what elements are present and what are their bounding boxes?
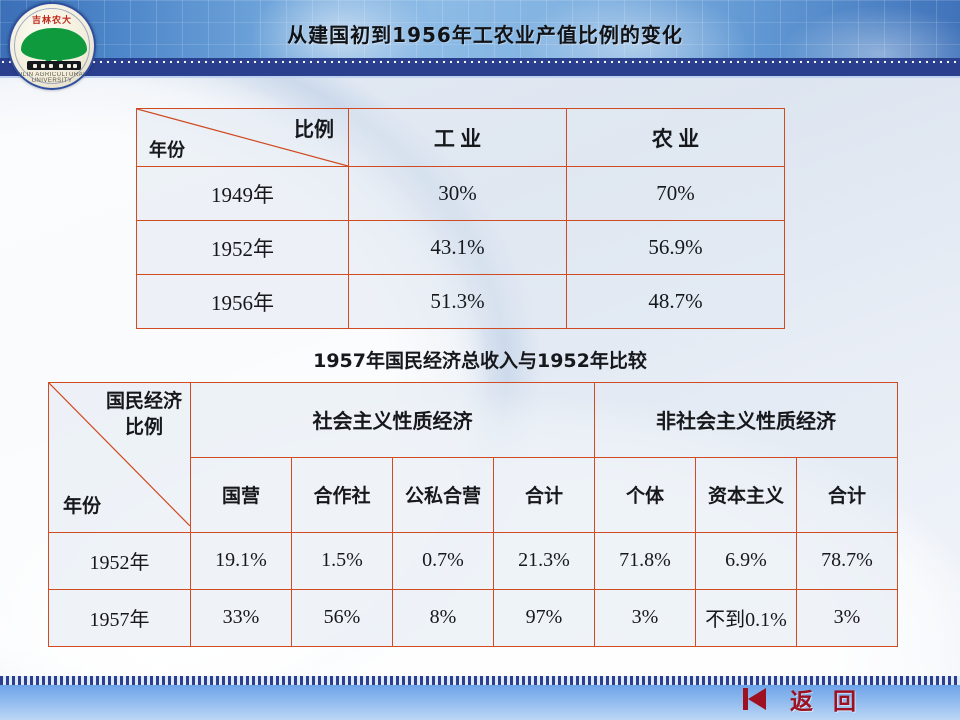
table1-cell-agriculture: 56.9% [567,221,785,275]
table2-col-header-state-owned: 国营 [191,457,292,532]
table2-row-year: 1957年 [49,589,191,646]
table1-row-year: 1952年 [137,221,349,275]
table2-cell-cooperative: 56% [292,589,393,646]
table-header-row: 比例 年份 工 业 农 业 [137,109,785,167]
industry-agriculture-ratio-table: 比例 年份 工 业 农 业 1949年 30% 70% 1952年 43.1% … [136,108,785,329]
table-header-group-row: 国民经济 比例 年份 社会主义性质经济 非社会主义性质经济 [49,383,898,458]
table-row: 1952年 43.1% 56.9% [137,221,785,275]
university-logo: 吉林农大 JILIN AGRICULTURAL UNIVERSITY [8,2,96,90]
table1-cell-industry: 43.1% [349,221,567,275]
table2-cell-cooperative: 1.5% [292,532,393,589]
table2-cell-subtotal-socialist: 21.3% [494,532,595,589]
table1-cell-industry: 30% [349,167,567,221]
table1-cell-industry: 51.3% [349,275,567,329]
table2-cell-joint-venture: 8% [393,589,494,646]
header-dotted-divider [0,58,960,78]
table2-col-header-capitalist: 资本主义 [696,457,797,532]
table2-cell-capitalist: 不到0.1% [696,589,797,646]
table2-cell-subtotal-non-socialist: 3% [797,589,898,646]
table2-corner-cell: 国民经济 比例 年份 [49,383,191,533]
table2-cell-state-owned: 33% [191,589,292,646]
table2-corner-col-label-line2: 比例 [125,416,163,438]
table2-corner-row-label: 年份 [63,491,101,518]
table2-cell-capitalist: 6.9% [696,532,797,589]
table2-col-header-cooperative: 合作社 [292,457,393,532]
table1-corner-col-label: 比例 [294,113,334,142]
table1-row-year: 1956年 [137,275,349,329]
table2-cell-joint-venture: 0.7% [393,532,494,589]
logo-top-characters: 吉林农大 [10,13,94,26]
table2-group-header-socialist: 社会主义性质经济 [191,383,595,458]
logo-tree-base-icon [27,61,81,70]
table2-cell-subtotal-non-socialist: 78.7% [797,532,898,589]
table2-group-header-non-socialist: 非社会主义性质经济 [595,383,898,458]
back-button[interactable]: 返 回 [700,681,910,717]
table-row: 1957年 33% 56% 8% 97% 3% 不到0.1% 3% [49,589,898,646]
table2-cell-individual: 3% [595,589,696,646]
table2-cell-subtotal-socialist: 97% [494,589,595,646]
skip-back-icon[interactable] [740,686,770,712]
table1-col-header-industry: 工 业 [349,109,567,167]
table-row: 1949年 30% 70% [137,167,785,221]
table-row: 1952年 19.1% 1.5% 0.7% 21.3% 71.8% 6.9% 7… [49,532,898,589]
table2-corner-col-label-line1: 国民经济 [106,390,182,412]
table2-col-header-subtotal-socialist: 合计 [494,457,595,532]
national-economy-comparison-table: 国民经济 比例 年份 社会主义性质经济 非社会主义性质经济 国营 合作社 公私合… [48,382,898,647]
table2-corner-col-label: 国民经济 比例 [106,389,182,440]
table2-title: 1957年国民经济总收入与1952年比较 [0,346,960,373]
table2-cell-state-owned: 19.1% [191,532,292,589]
table1-cell-agriculture: 48.7% [567,275,785,329]
slide-canvas: 从建国初到1956年工农业产值比例的变化 吉林农大 JILIN AGRICULT… [0,0,960,720]
table2-col-header-joint-venture: 公私合营 [393,457,494,532]
table1-corner-cell: 比例 年份 [137,109,349,167]
table2-row-year: 1952年 [49,532,191,589]
table1-col-header-agriculture: 农 业 [567,109,785,167]
table1-cell-agriculture: 70% [567,167,785,221]
table1-row-year: 1949年 [137,167,349,221]
table1-corner-row-label: 年份 [149,136,185,162]
table2-col-header-individual: 个体 [595,457,696,532]
page-title: 从建国初到1956年工农业产值比例的变化 [0,0,960,66]
table2-col-header-subtotal-non-socialist: 合计 [797,457,898,532]
table-row: 1956年 51.3% 48.7% [137,275,785,329]
table2-cell-individual: 71.8% [595,532,696,589]
back-button-label[interactable]: 返 回 [790,682,862,716]
logo-bottom-arc-text: JILIN AGRICULTURAL UNIVERSITY [9,72,95,84]
